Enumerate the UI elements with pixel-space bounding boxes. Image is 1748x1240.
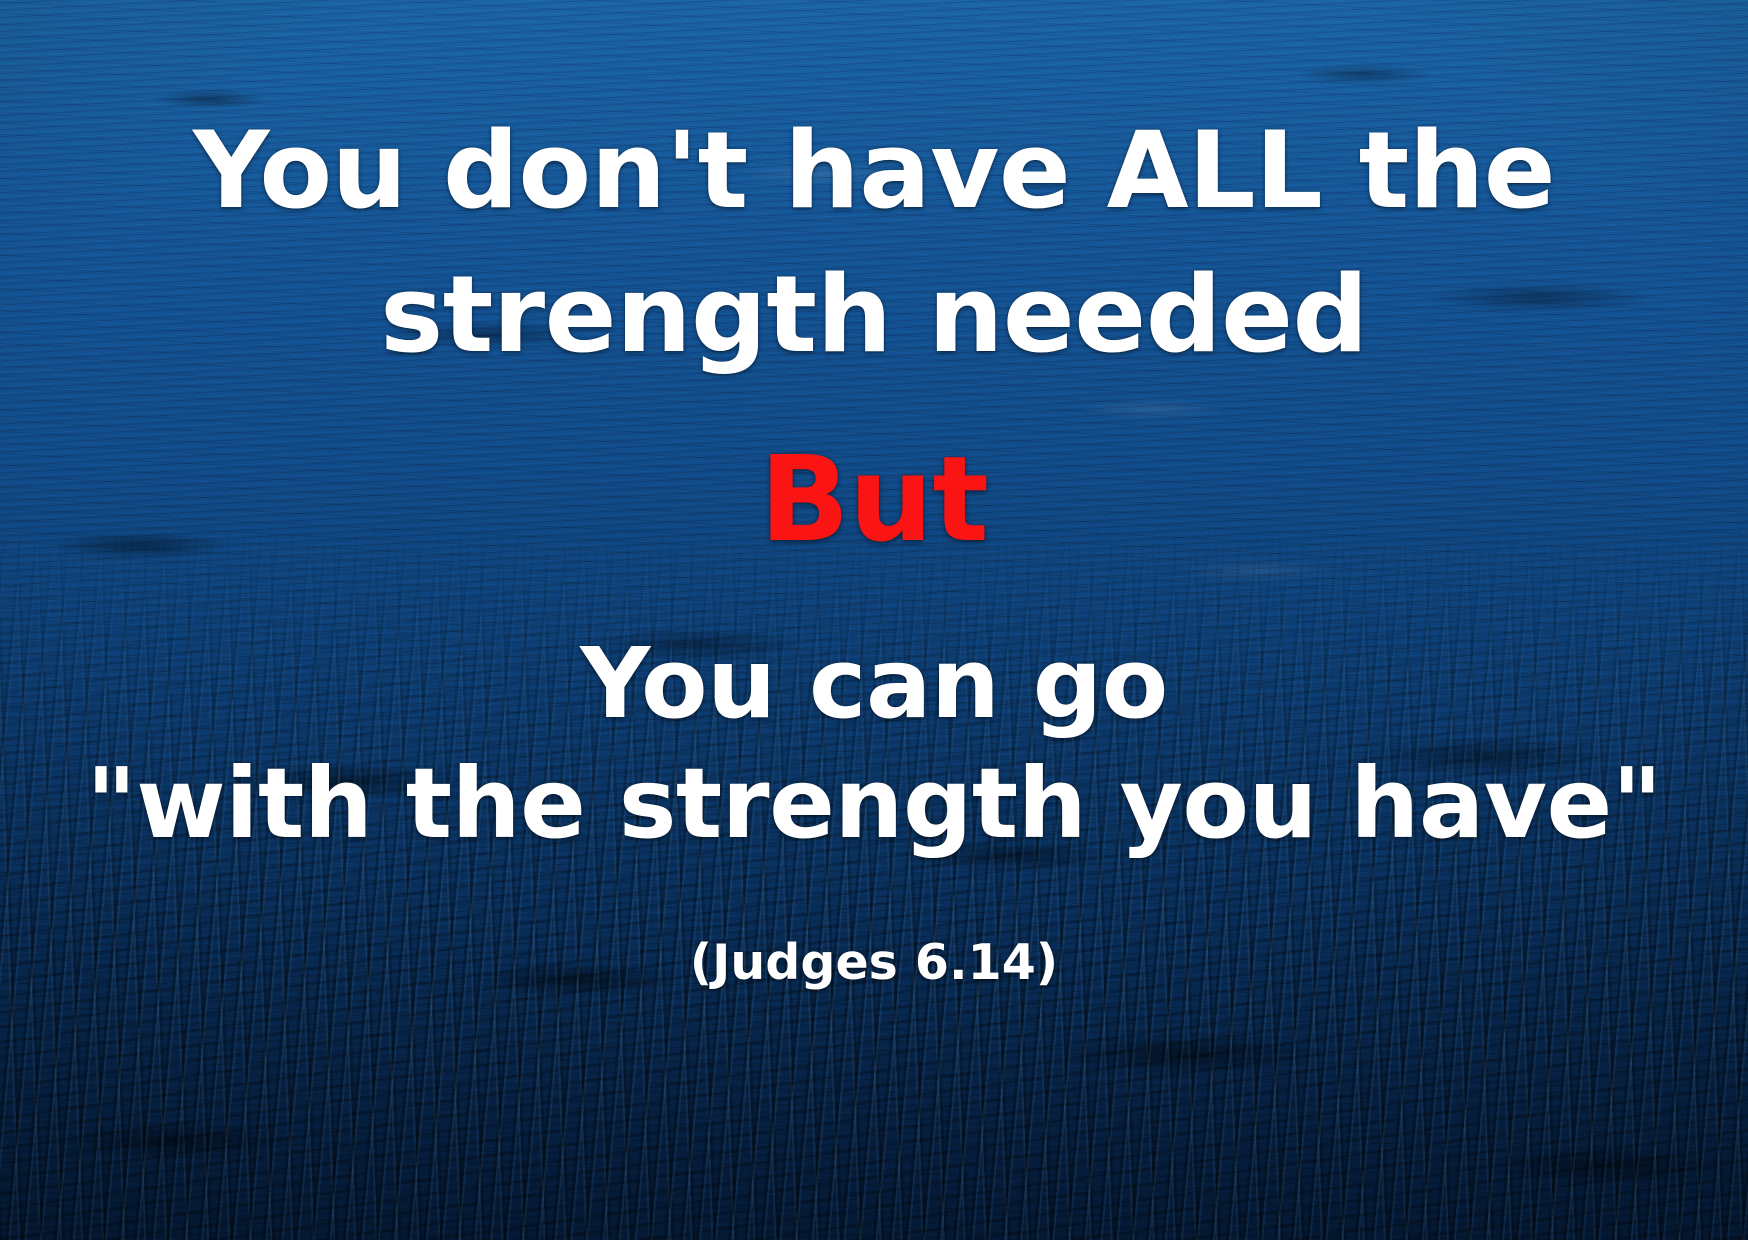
quote-line-1: You don't have ALL the [0, 118, 1748, 224]
quote-content: You don't have ALL the strength needed B… [0, 0, 1748, 1240]
quote-line-4: "with the strength you have" [0, 755, 1748, 852]
quote-line-2: strength needed [0, 262, 1748, 368]
quote-line-3: You can go [0, 635, 1748, 732]
scripture-citation: (Judges 6.14) [0, 938, 1748, 987]
quote-poster: You don't have ALL the strength needed B… [0, 0, 1748, 1240]
quote-conjunction-but: But [0, 440, 1748, 558]
